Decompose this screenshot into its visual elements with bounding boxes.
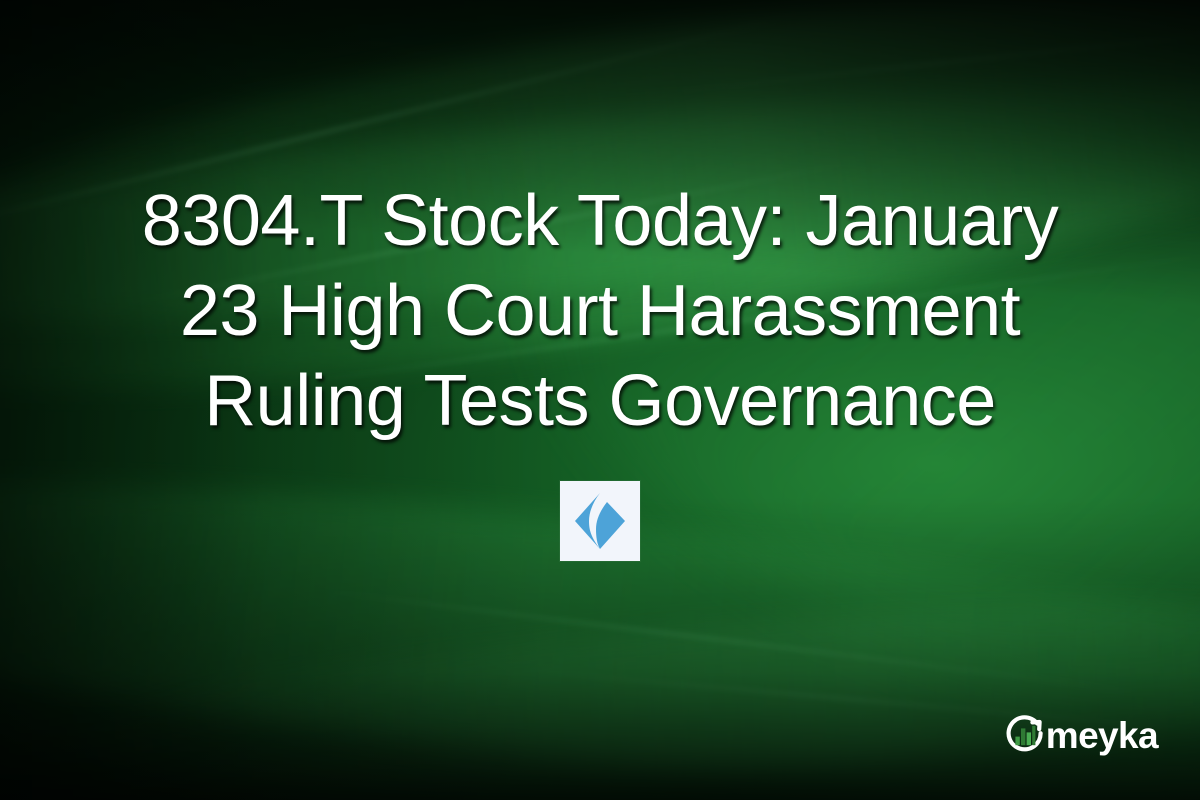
brand-logo-tile (560, 481, 640, 561)
cover-content: 8304.T Stock Today: January 23 High Cour… (0, 0, 1200, 800)
page-title-line-2: 23 High Court Harassment (55, 266, 1145, 356)
page-title-line-3: Ruling Tests Governance (55, 356, 1145, 446)
meyka-wordmark: meyka (1046, 717, 1158, 754)
meyka-watermark: meyka (1002, 712, 1158, 758)
cover-card: 8304.T Stock Today: January 23 High Cour… (0, 0, 1200, 800)
page-title-line-1: 8304.T Stock Today: January (55, 176, 1145, 266)
page-title: 8304.T Stock Today: January 23 High Cour… (55, 176, 1145, 446)
meyka-circle-barchart-icon (1002, 712, 1048, 758)
blue-diamond-leaf-icon (569, 490, 631, 552)
